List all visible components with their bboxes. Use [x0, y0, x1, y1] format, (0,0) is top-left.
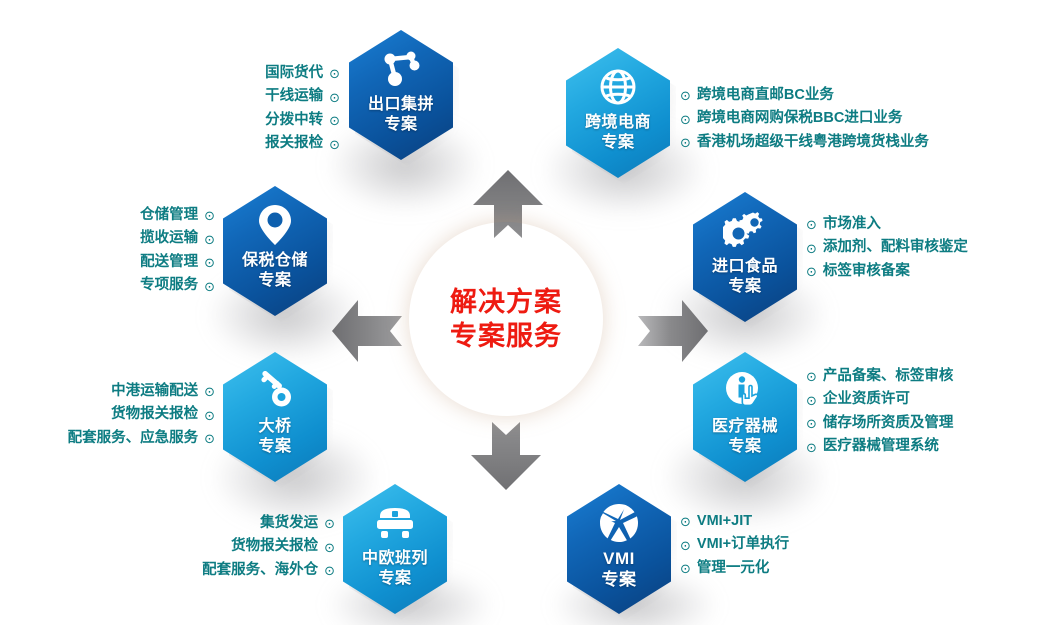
list-item: ⊙香港机场超级干线粤港跨境货栈业务 — [680, 131, 929, 154]
map-pin-icon — [253, 203, 297, 247]
list-item-label: 香港机场超级干线粤港跨境货栈业务 — [697, 131, 929, 154]
list-item-label: 货物报关报检 — [231, 535, 318, 558]
bullet-icon: ⊙ — [680, 89, 691, 102]
bullet-icon: ⊙ — [806, 370, 817, 383]
bullet-icon: ⊙ — [204, 409, 215, 422]
bullet-icon: ⊙ — [680, 539, 691, 552]
list-item: ⊙市场准入 — [806, 213, 968, 236]
bullet-icon: ⊙ — [329, 138, 340, 151]
list-item-label: 配送管理 — [140, 251, 198, 274]
bullet-icon: ⊙ — [324, 517, 335, 530]
bullet-icon: ⊙ — [204, 432, 215, 445]
bullets-imported-food: ⊙市场准入 ⊙添加剂、配料审核鉴定 ⊙标签审核备案 — [806, 213, 968, 283]
list-item: 国际货代⊙ — [155, 62, 340, 85]
node-medical-devices[interactable]: 医疗器械 专案 — [693, 352, 797, 482]
list-item-label: 市场准入 — [823, 213, 881, 236]
node-vmi[interactable]: VMI 专案 — [567, 484, 671, 614]
node-cross-border-ecommerce[interactable]: 跨境电商 专案 — [566, 48, 670, 178]
list-item: 货物报关报检⊙ — [5, 403, 215, 426]
list-item: 专项服务⊙ — [30, 274, 215, 297]
list-item: ⊙标签审核备案 — [806, 260, 968, 283]
bullets-medical-devices: ⊙产品备案、标签审核 ⊙企业资质许可 ⊙储存场所资质及管理 ⊙医疗器械管理系统 — [806, 365, 953, 459]
list-item-label: 专项服务 — [140, 274, 198, 297]
bullets-bridge: 中港运输配送⊙ 货物报关报检⊙ 配套服务、应急服务⊙ — [5, 380, 215, 450]
bullet-icon: ⊙ — [329, 114, 340, 127]
bullet-icon: ⊙ — [806, 242, 817, 255]
list-item-label: 标签审核备案 — [823, 260, 910, 283]
bullet-icon: ⊙ — [204, 256, 215, 269]
globe-icon — [596, 65, 640, 109]
node-title: 跨境电商 专案 — [585, 113, 651, 152]
solution-diagram: 解决方案 专案服务 出口集拼 专案 国际货代⊙ 干线运输⊙ 分拨中转⊙ 报关报检… — [0, 0, 1043, 625]
bullet-icon: ⊙ — [204, 233, 215, 246]
node-title: 出口集拼 专案 — [368, 95, 434, 134]
list-item: 货物报关报检⊙ — [120, 535, 335, 558]
list-item-label: 产品备案、标签审核 — [823, 365, 954, 388]
bullets-vmi: ⊙VMI+JIT ⊙VMI+订单执行 ⊙管理一元化 — [680, 510, 789, 580]
arrow-left — [330, 298, 404, 369]
bullet-icon: ⊙ — [680, 136, 691, 149]
train-icon — [373, 501, 417, 545]
list-item: ⊙医疗器械管理系统 — [806, 435, 953, 458]
node-bridge[interactable]: 大桥 专案 — [223, 352, 327, 482]
node-title: 保税仓储 专案 — [242, 251, 308, 290]
list-item: ⊙产品备案、标签审核 — [806, 365, 953, 388]
node-title: 医疗器械 专案 — [712, 417, 778, 456]
list-item: ⊙跨境电商网购保税BBC进口业务 — [680, 107, 929, 130]
list-item: 配送管理⊙ — [30, 251, 215, 274]
bullet-icon: ⊙ — [680, 113, 691, 126]
list-item-label: 配套服务、海外仓 — [202, 559, 318, 582]
list-item-label: 跨境电商网购保税BBC进口业务 — [697, 107, 902, 130]
list-item: 分拨中转⊙ — [155, 109, 340, 132]
bullet-icon: ⊙ — [806, 218, 817, 231]
list-item: 配套服务、海外仓⊙ — [120, 559, 335, 582]
list-item: 报关报检⊙ — [155, 132, 340, 155]
list-item-label: 跨境电商直邮BC业务 — [697, 84, 834, 107]
list-item: ⊙添加剂、配料审核鉴定 — [806, 236, 968, 259]
arrow-right — [636, 298, 710, 369]
node-title: 进口食品 专案 — [712, 257, 778, 296]
bullet-icon: ⊙ — [324, 564, 335, 577]
list-item-label: 医疗器械管理系统 — [823, 435, 939, 458]
bullets-cross-border-ecommerce: ⊙跨境电商直邮BC业务 ⊙跨境电商网购保税BBC进口业务 ⊙香港机场超级干线粤港… — [680, 84, 929, 154]
node-export-consolidation[interactable]: 出口集拼 专案 — [349, 30, 453, 160]
list-item: 中港运输配送⊙ — [5, 380, 215, 403]
list-item-label: 中港运输配送 — [111, 380, 198, 403]
center-node: 解决方案 专案服务 — [409, 222, 603, 416]
bullet-icon: ⊙ — [806, 394, 817, 407]
list-item-label: VMI+订单执行 — [697, 533, 789, 556]
bullet-icon: ⊙ — [680, 515, 691, 528]
list-item: ⊙企业资质许可 — [806, 388, 953, 411]
network-share-icon — [379, 47, 423, 91]
list-item-label: 仓储管理 — [140, 204, 198, 227]
list-item: ⊙跨境电商直邮BC业务 — [680, 84, 929, 107]
bullet-icon: ⊙ — [329, 91, 340, 104]
bullets-bonded-warehouse: 仓储管理⊙ 揽收运输⊙ 配送管理⊙ 专项服务⊙ — [30, 204, 215, 298]
bullets-china-europe-railway: 集货发运⊙ 货物报关报检⊙ 配套服务、海外仓⊙ — [120, 512, 335, 582]
bullet-icon: ⊙ — [329, 67, 340, 80]
center-title: 解决方案 专案服务 — [450, 285, 562, 353]
list-item: 仓储管理⊙ — [30, 204, 215, 227]
node-title: 大桥 专案 — [258, 417, 291, 456]
list-item: 配套服务、应急服务⊙ — [5, 427, 215, 450]
aperture-icon — [597, 501, 641, 545]
list-item-label: 添加剂、配料审核鉴定 — [823, 236, 968, 259]
list-item-label: 揽收运输 — [140, 227, 198, 250]
list-item-label: 国际货代 — [265, 62, 323, 85]
list-item: 干线运输⊙ — [155, 85, 340, 108]
node-title: VMI 专案 — [602, 549, 637, 590]
bullet-icon: ⊙ — [806, 441, 817, 454]
list-item-label: 配套服务、应急服务 — [68, 427, 199, 450]
bullets-export-consolidation: 国际货代⊙ 干线运输⊙ 分拨中转⊙ 报关报检⊙ — [155, 62, 340, 156]
bullet-icon: ⊙ — [324, 541, 335, 554]
list-item: 集货发运⊙ — [120, 512, 335, 535]
info-hand-icon — [723, 369, 767, 413]
bullet-icon: ⊙ — [806, 265, 817, 278]
list-item: ⊙储存场所资质及管理 — [806, 412, 953, 435]
node-china-europe-railway[interactable]: 中欧班列 专案 — [343, 484, 447, 614]
bullet-icon: ⊙ — [204, 209, 215, 222]
list-item: ⊙VMI+订单执行 — [680, 533, 789, 556]
list-item-label: 集货发运 — [260, 512, 318, 535]
list-item-label: VMI+JIT — [697, 510, 752, 533]
list-item-label: 储存场所资质及管理 — [823, 412, 954, 435]
list-item-label: 货物报关报检 — [111, 403, 198, 426]
list-item-label: 分拨中转 — [265, 109, 323, 132]
list-item-label: 管理一元化 — [697, 557, 770, 580]
arrow-down — [468, 420, 544, 497]
node-title: 中欧班列 专案 — [362, 549, 428, 588]
list-item: ⊙VMI+JIT — [680, 510, 789, 533]
bullet-icon: ⊙ — [680, 562, 691, 575]
gears-icon — [723, 209, 767, 253]
bullet-icon: ⊙ — [806, 417, 817, 430]
list-item: 揽收运输⊙ — [30, 227, 215, 250]
node-bonded-warehouse[interactable]: 保税仓储 专案 — [223, 186, 327, 316]
list-item-label: 报关报检 — [265, 132, 323, 155]
bullet-icon: ⊙ — [204, 385, 215, 398]
list-item-label: 企业资质许可 — [823, 388, 910, 411]
list-item: ⊙管理一元化 — [680, 557, 789, 580]
bullet-icon: ⊙ — [204, 280, 215, 293]
list-item-label: 干线运输 — [265, 85, 323, 108]
key-icon — [253, 369, 297, 413]
